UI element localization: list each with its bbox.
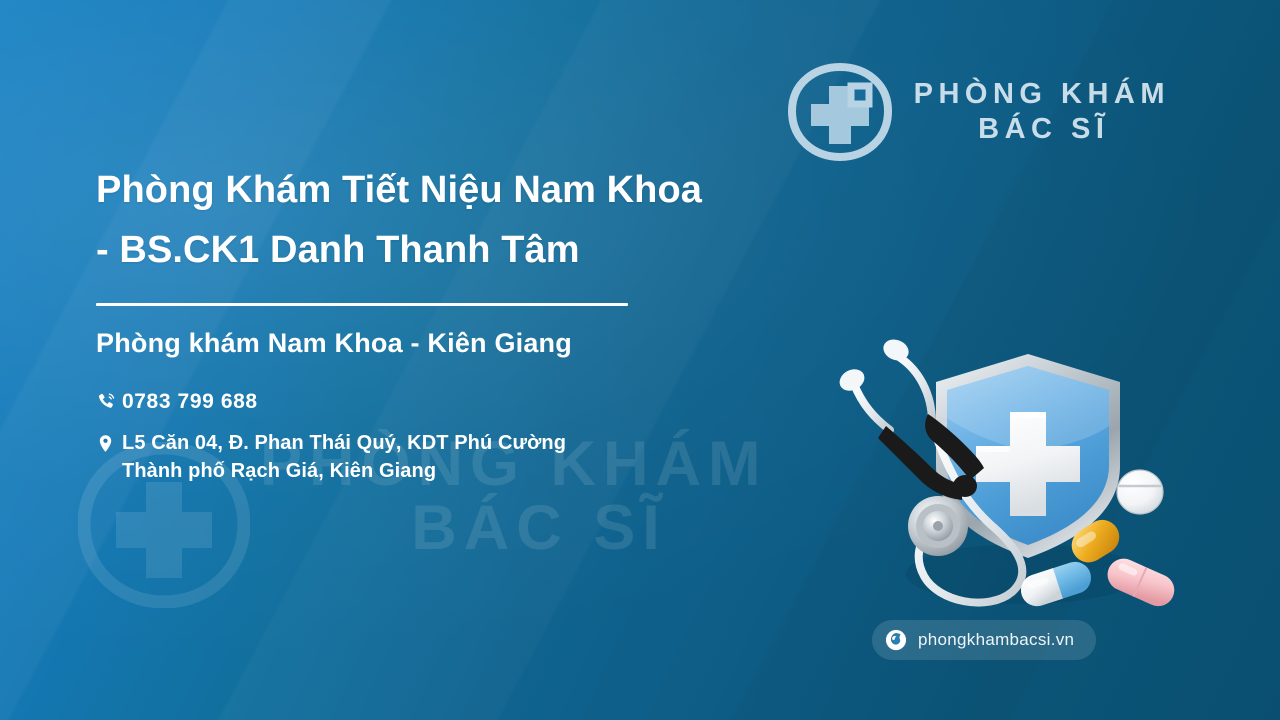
title-divider [96,303,628,306]
brand-line-2: BÁC SĨ [914,112,1170,147]
clinic-subtitle: Phòng khám Nam Khoa - Kiên Giang [96,328,716,359]
contact-phone-row[interactable]: 0783 799 688 [96,387,716,417]
contact-info: 0783 799 688 L5 Căn 04, Đ. Phan Thái Quý… [96,387,716,486]
brand-line-1: PHÒNG KHÁM [914,77,1170,112]
clinic-banner: PHÒNG KHÁM BÁC SĨ PHÒNG KHÁM BÁC SĨ Phòn… [0,0,1280,720]
phone-call-icon [96,389,122,413]
globe-icon [885,629,907,651]
brand-mark-icon [788,62,892,162]
stethoscope-shield-pills-illustration [828,326,1180,618]
address-text: L5 Căn 04, Đ. Phan Thái Quý, KDT Phú Cườ… [122,429,566,486]
brand-text: PHÒNG KHÁM BÁC SĨ [914,77,1170,148]
contact-address-row[interactable]: L5 Căn 04, Đ. Phan Thái Quý, KDT Phú Cườ… [96,429,716,486]
website-badge[interactable]: phongkhambacsi.vn [872,620,1096,660]
map-pin-icon [96,432,122,456]
website-url: phongkhambacsi.vn [918,630,1074,650]
phone-number: 0783 799 688 [122,387,258,417]
banner-content: Phòng Khám Tiết Niệu Nam Khoa - BS.CK1 D… [96,160,716,498]
clinic-title: Phòng Khám Tiết Niệu Nam Khoa - BS.CK1 D… [96,160,716,280]
brand-logo: PHÒNG KHÁM BÁC SĨ [788,62,1170,162]
